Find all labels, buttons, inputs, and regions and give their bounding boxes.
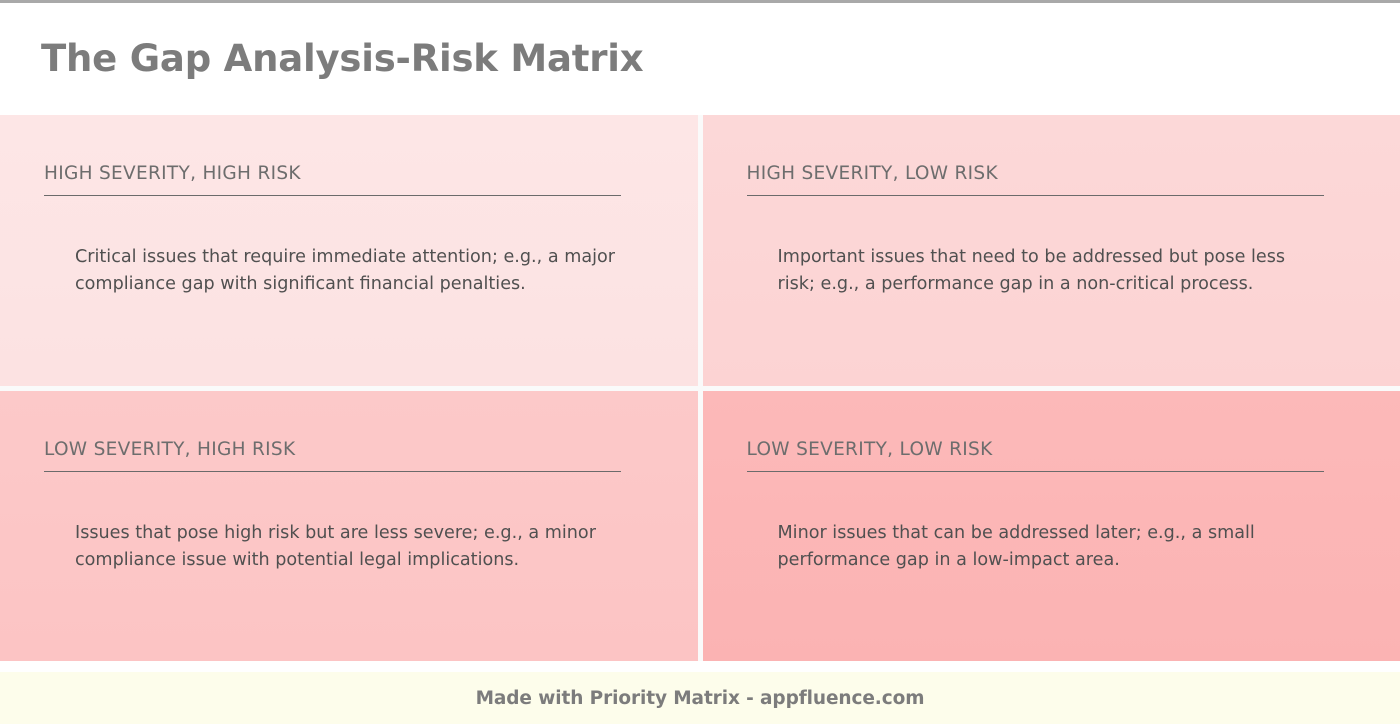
footer-attribution: Made with Priority Matrix - appfluence.c… xyxy=(476,688,925,709)
title-bar: The Gap Analysis-Risk Matrix xyxy=(0,3,1400,115)
quadrant-low-severity-low-risk[interactable]: LOW SEVERITY, LOW RISK Minor issues that… xyxy=(703,391,1400,662)
quadrant-header-high-severity-low-risk: HIGH SEVERITY, LOW RISK xyxy=(747,163,1355,184)
footer-bar: Made with Priority Matrix - appfluence.c… xyxy=(0,672,1400,724)
risk-matrix-page: The Gap Analysis-Risk Matrix HIGH SEVERI… xyxy=(0,0,1400,724)
quadrant-body-low-severity-low-risk: Minor issues that can be addressed later… xyxy=(778,520,1323,573)
matrix-grid: HIGH SEVERITY, HIGH RISK Critical issues… xyxy=(0,115,1400,661)
quadrant-high-severity-high-risk[interactable]: HIGH SEVERITY, HIGH RISK Critical issues… xyxy=(0,115,698,386)
quadrant-header-low-severity-low-risk: LOW SEVERITY, LOW RISK xyxy=(747,439,1355,460)
quadrant-body-high-severity-high-risk: Critical issues that require immediate a… xyxy=(75,244,620,297)
page-title: The Gap Analysis-Risk Matrix xyxy=(41,39,643,80)
quadrant-header-low-severity-high-risk: LOW SEVERITY, HIGH RISK xyxy=(44,439,652,460)
footer-spacer xyxy=(0,661,1400,672)
quadrant-high-severity-low-risk[interactable]: HIGH SEVERITY, LOW RISK Important issues… xyxy=(703,115,1400,386)
quadrant-divider xyxy=(747,195,1324,196)
quadrant-body-high-severity-low-risk: Important issues that need to be address… xyxy=(778,244,1323,297)
quadrant-divider xyxy=(44,471,621,472)
quadrant-header-high-severity-high-risk: HIGH SEVERITY, HIGH RISK xyxy=(44,163,652,184)
quadrant-divider xyxy=(44,195,621,196)
quadrant-body-low-severity-high-risk: Issues that pose high risk but are less … xyxy=(75,520,620,573)
quadrant-low-severity-high-risk[interactable]: LOW SEVERITY, HIGH RISK Issues that pose… xyxy=(0,391,698,662)
quadrant-divider xyxy=(747,471,1324,472)
